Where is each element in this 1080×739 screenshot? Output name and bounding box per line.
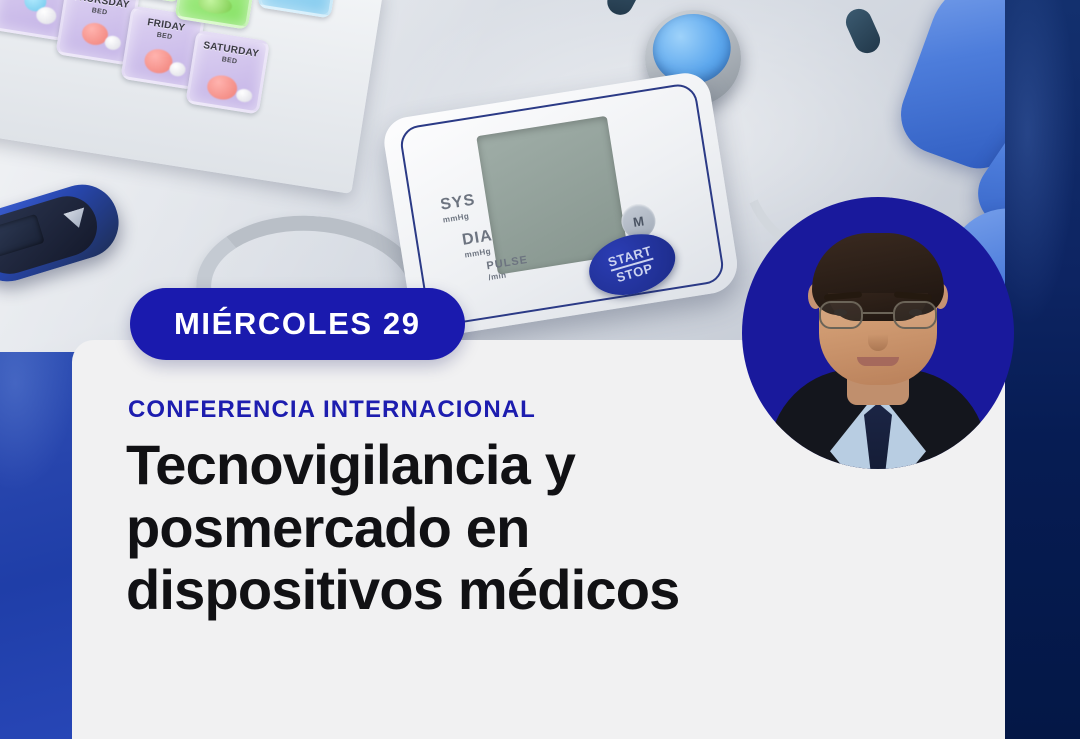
pill-cell-day: FRIDAY bbox=[147, 17, 186, 34]
pill-cell-time: BED bbox=[221, 56, 238, 65]
left-blue-panel bbox=[0, 352, 76, 739]
avatar-nose bbox=[868, 323, 888, 351]
headline-line-2: posmercado en bbox=[126, 497, 726, 560]
pill-cell-time: BED bbox=[91, 7, 108, 16]
conference-poster: WEDNESDAY BED THURSDAY BED FRIDAY BED SA… bbox=[0, 0, 1080, 739]
headline-line-3: dispositivos médicos bbox=[126, 559, 726, 622]
right-navy-panel bbox=[1005, 0, 1080, 739]
bp-label-dia: DIA mmHg bbox=[461, 227, 496, 259]
pill-cell-time: BED bbox=[156, 32, 173, 41]
event-type-eyebrow: CONFERENCIA INTERNACIONAL bbox=[128, 396, 536, 424]
page-title: Tecnovigilancia y posmercado en disposit… bbox=[126, 434, 726, 622]
date-badge: MIÉRCOLES 29 bbox=[130, 288, 465, 360]
headline-line-1: Tecnovigilancia y bbox=[126, 434, 726, 497]
pill-cell: SATURDAY BED bbox=[185, 30, 270, 115]
speaker-avatar bbox=[742, 197, 1014, 469]
avatar-mouth bbox=[857, 357, 899, 366]
date-badge-label: MIÉRCOLES 29 bbox=[174, 306, 421, 342]
bp-label-sys: SYS mmHg bbox=[439, 191, 478, 224]
